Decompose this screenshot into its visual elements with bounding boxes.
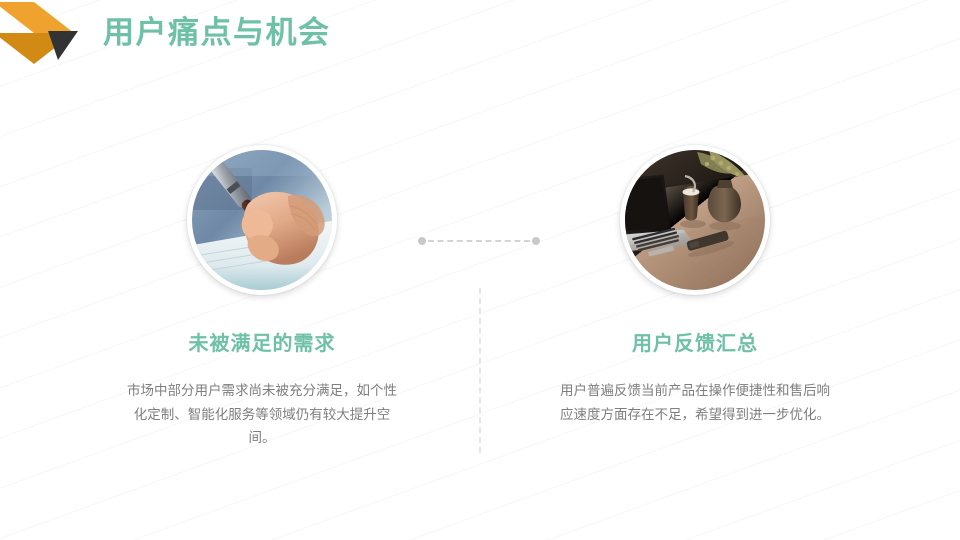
vertical-dashed-divider: [479, 288, 481, 453]
card-heading: 用户反馈汇总: [545, 331, 845, 357]
page-title: 用户痛点与机会: [103, 12, 331, 54]
laptop-on-wooden-desk-photo: [625, 150, 765, 290]
card-heading: 未被满足的需求: [112, 331, 412, 357]
horizontal-dashed-connector: [418, 236, 540, 246]
connector-dot-left: [418, 237, 426, 245]
card-image-frame-left: [187, 145, 337, 295]
connector-dashed-line: [428, 240, 530, 242]
slide-root: 用户痛点与机会: [0, 0, 960, 540]
card-unmet-needs: 未被满足的需求 市场中部分用户需求尚未被充分满足，如个性化定制、智能化服务等领域…: [112, 140, 412, 450]
card-body-text: 用户普遍反馈当前产品在操作便捷性和售后响应速度方面存在不足，希望得到进一步优化。: [545, 379, 845, 426]
chevron-arrow-logo: [0, 0, 92, 70]
connector-dot-right: [532, 237, 540, 245]
card-body-text: 市场中部分用户需求尚未被充分满足，如个性化定制、智能化服务等领域仍有较大提升空间…: [112, 379, 412, 450]
hand-writing-with-fountain-pen-photo: [192, 150, 332, 290]
card-user-feedback: 用户反馈汇总 用户普遍反馈当前产品在操作便捷性和售后响应速度方面存在不足，希望得…: [545, 140, 845, 426]
card-image-frame-right: [620, 145, 770, 295]
